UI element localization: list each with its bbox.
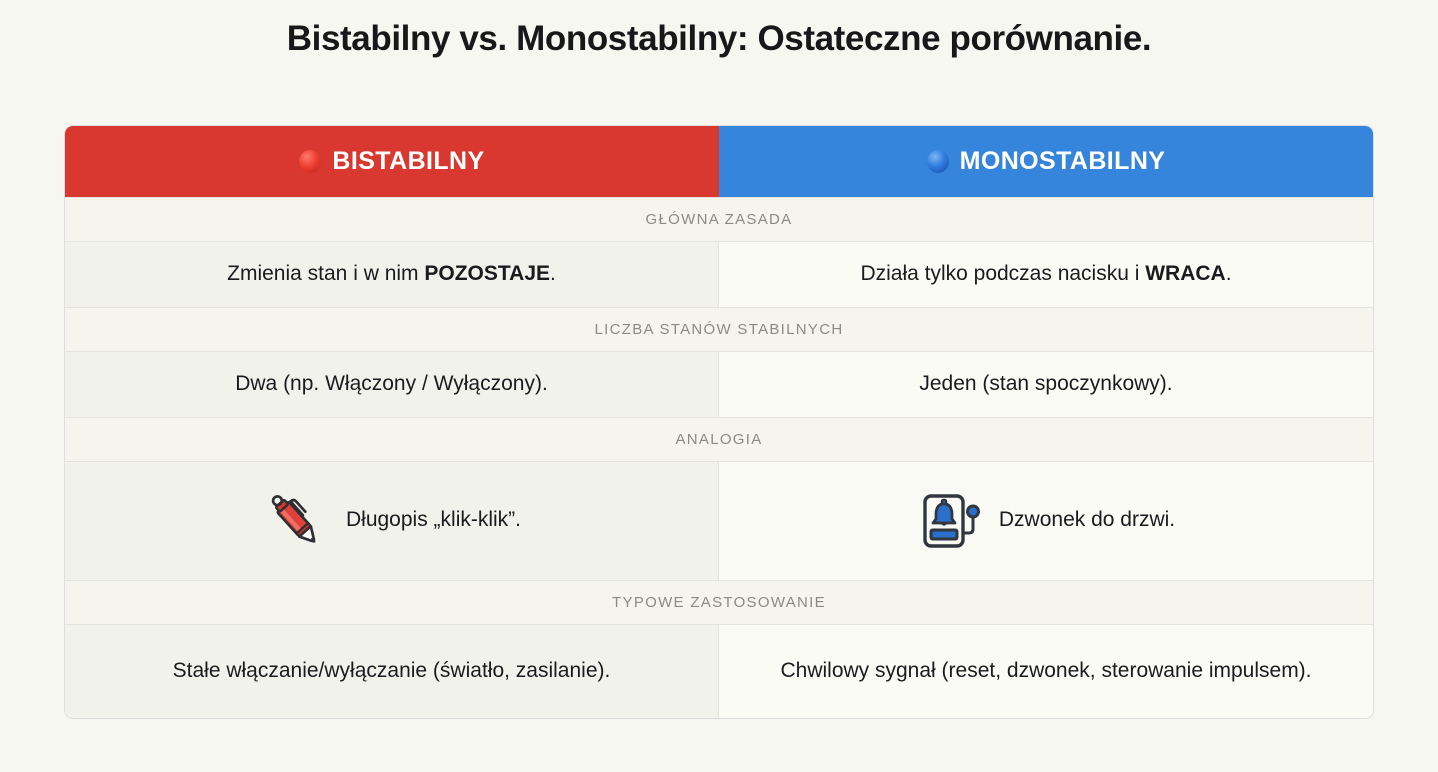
cell-text-bold: WRACA (1145, 262, 1225, 285)
cell-bistabilny-zasada: Zmienia stan i w nim POZOSTAJE. (65, 242, 719, 307)
cell-text: Działa tylko podczas nacisku i (860, 262, 1145, 285)
cell-text: Dzwonek do drzwi. (999, 506, 1175, 535)
cell-text-suffix: . (550, 262, 556, 285)
cell-bistabilny-analogia: Długopis „klik-klik”. (65, 462, 719, 580)
table-row: Długopis „klik-klik”. (65, 462, 1373, 580)
section-label-liczba-stanow: LICZBA STANÓW STABILNYCH (594, 321, 843, 338)
page-title: Bistabilny vs. Monostabilny: Ostateczne … (0, 18, 1438, 60)
pen-icon (262, 488, 328, 554)
section-label-row: ANALOGIA (65, 417, 1373, 462)
cell-text: Zmienia stan i w nim (227, 262, 424, 285)
cell-text: Chwilowy sygnał (reset, dzwonek, sterowa… (780, 657, 1311, 686)
cell-monostabilny-zastosowanie: Chwilowy sygnał (reset, dzwonek, sterowa… (719, 625, 1373, 718)
comparison-table: BISTABILNY MONOSTABILNY GŁÓWNA ZASADA Zm… (64, 125, 1374, 719)
red-circle-icon (299, 150, 321, 173)
table-header-bistabilny-label: BISTABILNY (332, 147, 484, 176)
section-label-row: LICZBA STANÓW STABILNYCH (65, 307, 1373, 352)
section-label-glowna-zasada: GŁÓWNA ZASADA (646, 211, 793, 228)
section-label-typowe-zastosowanie: TYPOWE ZASTOSOWANIE (612, 594, 826, 611)
cell-monostabilny-liczba-stanow: Jeden (stan spoczynkowy). (719, 352, 1373, 417)
blue-circle-icon (927, 150, 949, 173)
table-header-bistabilny: BISTABILNY (65, 126, 719, 197)
doorbell-icon (917, 489, 981, 553)
table-header-monostabilny: MONOSTABILNY (719, 126, 1373, 197)
cell-monostabilny-analogia: Dzwonek do drzwi. (719, 462, 1373, 580)
table-row: Stałe włączanie/wyłączanie (światło, zas… (65, 625, 1373, 718)
cell-text-bold: POZOSTAJE (424, 262, 550, 285)
comparison-infographic-page: Bistabilny vs. Monostabilny: Ostateczne … (0, 0, 1438, 772)
section-label-analogia: ANALOGIA (675, 431, 762, 448)
cell-bistabilny-zastosowanie: Stałe włączanie/wyłączanie (światło, zas… (65, 625, 719, 718)
section-label-row: GŁÓWNA ZASADA (65, 197, 1373, 242)
table-header-row: BISTABILNY MONOSTABILNY (65, 126, 1373, 197)
cell-text: Dwa (np. Włączony / Wyłączony). (235, 370, 548, 399)
cell-monostabilny-zasada: Działa tylko podczas nacisku i WRACA. (719, 242, 1373, 307)
cell-text: Jeden (stan spoczynkowy). (919, 370, 1172, 399)
cell-text-suffix: . (1226, 262, 1232, 285)
cell-bistabilny-liczba-stanow: Dwa (np. Włączony / Wyłączony). (65, 352, 719, 417)
table-row: Dwa (np. Włączony / Wyłączony). Jeden (s… (65, 352, 1373, 417)
section-label-row: TYPOWE ZASTOSOWANIE (65, 580, 1373, 625)
table-row: Zmienia stan i w nim POZOSTAJE. Działa t… (65, 242, 1373, 307)
cell-text: Stałe włączanie/wyłączanie (światło, zas… (173, 657, 611, 686)
cell-text: Długopis „klik-klik”. (346, 506, 521, 535)
table-header-monostabilny-label: MONOSTABILNY (960, 147, 1166, 176)
